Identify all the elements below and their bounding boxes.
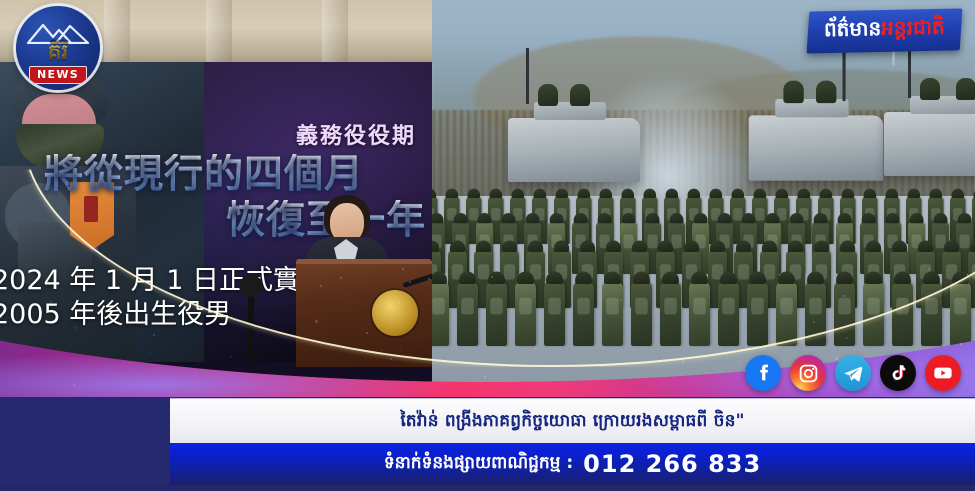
vehicle-crew <box>538 84 558 106</box>
vehicle-antenna <box>526 48 529 104</box>
vehicle-crew <box>920 78 940 100</box>
contact-phone-number: 012 266 833 <box>583 450 761 478</box>
banner-text-news: ព័ត៌មាន <box>824 16 882 41</box>
headline-bar: តៃវ៉ាន់ ពង្រីងភាគព្វកិច្ចយោធា ក្រោយរងសម្… <box>170 398 975 443</box>
armored-vehicle <box>749 115 884 180</box>
youtube-icon[interactable] <box>925 355 961 391</box>
armored-vehicle <box>508 118 640 182</box>
contact-label: ទំនាក់ទំនងផ្សាយពាណិជ្ជកម្ម : <box>384 452 573 477</box>
social-icons-bar <box>745 355 961 391</box>
backdrop-line-2: 將從現行的四個月 <box>44 154 426 196</box>
media-area: 義務役役期 將從現行的四個月 恢復至一年 2024 年 1 月 1 日正式實施 … <box>0 0 975 397</box>
vehicle-crew <box>816 81 836 103</box>
backdrop-line-1: 義務役役期 <box>122 126 416 148</box>
channel-logo-khmer: គីរី <box>16 42 100 63</box>
contact-bar: ទំនាក់ទំនងផ្សាយពាណិជ្ជកម្ម : 012 266 833 <box>170 443 975 485</box>
broadcast-screen: 義務役役期 將從現行的四個月 恢復至一年 2024 年 1 月 1 日正式實施 … <box>0 0 975 491</box>
headline-text: តៃវ៉ាន់ ពង្រីងភាគព្វកិច្ចយោធា ក្រោយរងសម្… <box>400 412 744 431</box>
facebook-icon[interactable] <box>745 355 781 391</box>
footer-bottom-strip <box>0 485 975 491</box>
telegram-icon[interactable] <box>835 355 871 391</box>
vehicle-crew <box>956 78 975 100</box>
tiktok-icon[interactable] <box>880 355 916 391</box>
armored-vehicle <box>884 112 975 176</box>
instagram-icon[interactable] <box>790 355 826 391</box>
channel-logo[interactable]: គីរី NEWS <box>16 6 100 90</box>
vehicle-crew <box>570 84 590 106</box>
vehicle-crew <box>783 81 803 103</box>
banner-text-international: អន្តរជាតិ <box>881 15 945 40</box>
footer-area: តៃវ៉ាន់ ពង្រីងភាគព្វកិច្ចយោធា ក្រោយរងសម្… <box>0 397 975 491</box>
channel-logo-news-tag: NEWS <box>29 66 87 84</box>
international-news-banner: ព័ត៌មានអន្តរជាតិ <box>807 8 963 53</box>
